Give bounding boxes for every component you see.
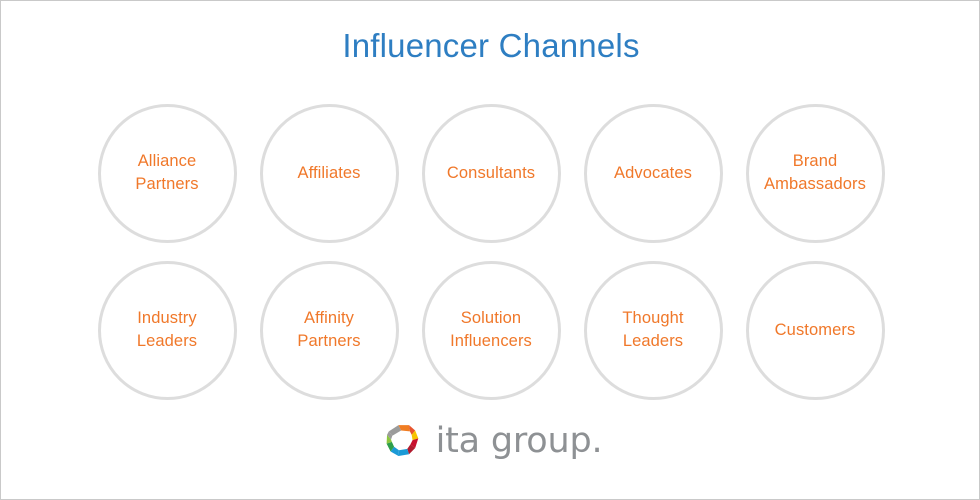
channel-label: Affiliates [263, 162, 396, 185]
channel-label: Affinity Partners [263, 307, 396, 353]
channel-row-1: Alliance Partners Affiliates Consultants… [1, 103, 980, 243]
channel-circle-thought-leaders[interactable]: Thought Leaders [584, 261, 723, 400]
channel-circle-affiliates[interactable]: Affiliates [260, 104, 399, 243]
brand-logo: ita group. [1, 419, 980, 463]
channel-row-2: Industry Leaders Affinity Partners Solut… [1, 260, 980, 400]
channel-label: Thought Leaders [587, 307, 720, 353]
channel-circle-solution-influencers[interactable]: Solution Influencers [422, 261, 561, 400]
channel-label: Brand Ambassadors [749, 150, 882, 196]
infographic-canvas: Influencer Channels Alliance Partners Af… [0, 0, 980, 500]
channel-circle-affinity-partners[interactable]: Affinity Partners [260, 261, 399, 400]
channel-label: Alliance Partners [101, 150, 234, 196]
channel-label: Solution Influencers [425, 307, 558, 353]
channel-circle-customers[interactable]: Customers [746, 261, 885, 400]
ita-group-pinwheel-icon [380, 419, 424, 463]
channel-circle-industry-leaders[interactable]: Industry Leaders [98, 261, 237, 400]
channel-label: Industry Leaders [101, 307, 234, 353]
page-title: Influencer Channels [1, 25, 980, 67]
channel-label: Customers [749, 319, 882, 342]
channel-label: Consultants [425, 162, 558, 185]
channel-circle-advocates[interactable]: Advocates [584, 104, 723, 243]
channel-circle-consultants[interactable]: Consultants [422, 104, 561, 243]
channel-circle-alliance-partners[interactable]: Alliance Partners [98, 104, 237, 243]
logo-wordmark: ita group. [436, 419, 603, 463]
channel-label: Advocates [587, 162, 720, 185]
channel-circle-brand-ambassadors[interactable]: Brand Ambassadors [746, 104, 885, 243]
